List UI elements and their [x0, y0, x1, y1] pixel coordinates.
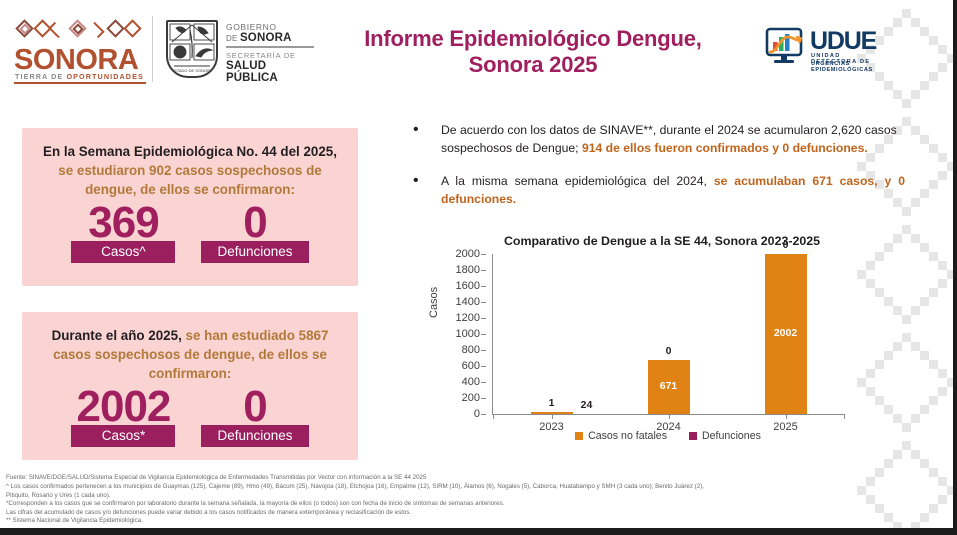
bullet-dot-icon: • — [413, 174, 419, 188]
bullet-list: • De acuerdo con los datos de SINAVE**, … — [405, 122, 905, 224]
bar-top-label-2025: 0 — [783, 239, 789, 251]
legend-label: Casos no fatales — [588, 430, 667, 442]
footnote-line-3: *Corresponden a los casos que se confirm… — [6, 500, 926, 509]
bar-top-label-2023: 1 — [549, 397, 555, 409]
bar-value-label-2025: 2002 — [774, 327, 797, 339]
bullet-text-0: De acuerdo con los datos de SINAVE**, du… — [441, 122, 905, 157]
legend-label: Defunciones — [702, 430, 761, 442]
y-tick-mark-0 — [481, 414, 486, 415]
bullet-0-highlight: 914 de ellos fueron confirmados y 0 defu… — [582, 141, 868, 155]
y-tick-label-2000: 2000 — [436, 248, 480, 260]
weekly-figure-deaths: 0 Defunciones — [201, 203, 308, 263]
udue-wordmark: UDUE — [810, 27, 876, 56]
y-tick-label-1800: 1800 — [436, 264, 480, 276]
x-tick-mark-2025 — [786, 414, 787, 419]
dengue-comparison-chart: Comparativo de Dengue a la SE 44, Sonora… — [432, 234, 892, 470]
chart-y-ticks: 0200400600800100012001400160018002000 — [440, 254, 486, 414]
svg-text:ESTADO DE SONORA: ESTADO DE SONORA — [171, 68, 213, 73]
bullet-item-1: • A la misma semana epidemiológica del 2… — [405, 173, 905, 208]
header-divider — [152, 16, 153, 82]
x-tick-mark-2023 — [552, 414, 553, 419]
y-tick-label-200: 200 — [436, 392, 480, 404]
bar-value-label-2024: 671 — [660, 380, 678, 392]
gobierno-sonora-logo: ESTADO DE SONORA GOBIERNO DE SONORA SECR… — [166, 20, 314, 78]
yearly-cases-label: Casos* — [71, 425, 175, 447]
y-tick-mark-1200 — [481, 318, 486, 319]
sonora-logo: SONORA TIERRA DE OPORTUNIDADES — [14, 18, 146, 80]
y-tick-mark-1600 — [481, 286, 486, 287]
yearly-summary-card: Durante el año 2025, se han estudiado 58… — [22, 312, 358, 460]
y-tick-label-1000: 1000 — [436, 328, 480, 340]
y-tick-label-800: 800 — [436, 344, 480, 356]
y-tick-mark-1400 — [481, 302, 486, 303]
yearly-summary-text: Durante el año 2025, se han estudiado 58… — [22, 312, 358, 383]
y-tick-mark-600 — [481, 366, 486, 367]
y-tick-mark-400 — [481, 382, 486, 383]
weekly-summary-lead: En la Semana Epidemiológica No. 44 del 2… — [43, 144, 337, 159]
yearly-figures: 2002 Casos* 0 Defunciones — [22, 387, 358, 447]
gobierno-line3: SECRETARÍA DE — [226, 51, 316, 60]
coat-of-arms-shield-icon: ESTADO DE SONORA — [166, 20, 218, 78]
weekly-summary-text: En la Semana Epidemiológica No. 44 del 2… — [22, 128, 358, 199]
gobierno-line2-value: SONORA — [240, 32, 292, 44]
yearly-cases-number: 2002 — [71, 387, 175, 427]
sonora-tagline-plain: TIERRA DE — [15, 72, 66, 81]
sonora-underline — [14, 82, 146, 84]
x-tick-mark-2024 — [669, 414, 670, 419]
weekly-deaths-number: 0 — [201, 203, 308, 243]
bar-group-2024[interactable]: 06712024 — [610, 254, 727, 414]
chart-title: Comparativo de Dengue a la SE 44, Sonora… — [432, 234, 892, 248]
weekly-summary-rest: se estudiaron 902 casos sospechosos de d… — [58, 163, 321, 197]
y-tick-mark-1800 — [481, 270, 486, 271]
footnote-line-4: Las cifras del acumulado de casos y/o de… — [6, 509, 926, 518]
gobierno-line2: DE SONORA — [226, 32, 316, 44]
yearly-deaths-number: 0 — [201, 387, 308, 427]
bullet-item-0: • De acuerdo con los datos de SINAVE**, … — [405, 122, 905, 157]
y-tick-label-1400: 1400 — [436, 296, 480, 308]
y-tick-mark-200 — [481, 398, 486, 399]
chart-bars-layer: 124202306712024020022025 — [493, 254, 844, 414]
y-tick-label-0: 0 — [436, 408, 480, 420]
gobierno-text-block: GOBIERNO DE SONORA SECRETARÍA DE SALUD P… — [226, 22, 316, 84]
bottom-edge-bar — [0, 528, 957, 535]
y-tick-label-1200: 1200 — [436, 312, 480, 324]
slide-canvas: SONORA TIERRA DE OPORTUNIDADES — [0, 0, 957, 535]
weekly-figures: 369 Casos^ 0 Defunciones — [22, 203, 358, 263]
x-tick-mark-end — [844, 414, 845, 419]
udue-monitor-chart-icon — [764, 26, 808, 70]
bullet-dot-icon: • — [413, 123, 419, 137]
y-tick-mark-1000 — [481, 334, 486, 335]
x-tick-mark-start — [493, 414, 494, 419]
weekly-summary-card: En la Semana Epidemiológica No. 44 del 2… — [22, 128, 358, 286]
legend-swatch-icon — [575, 432, 583, 440]
sonora-tagline: TIERRA DE OPORTUNIDADES — [15, 72, 144, 81]
footnote-line-1: ^ Los casos confirmados pertenecen a los… — [6, 483, 926, 492]
footnote-line-2: Pitiquito, Rosario y Ures (1 cada uno). — [6, 492, 926, 501]
udue-logo: UDUE UNIDAD DETECTORA DE URGENCIAS EPIDE… — [764, 26, 886, 72]
bar-group-2025[interactable]: 020022025 — [727, 254, 844, 414]
chart-plot-area: Casos 0200400600800100012001400160018002… — [432, 254, 892, 434]
y-tick-mark-2000 — [481, 254, 486, 255]
yearly-figure-deaths: 0 Defunciones — [201, 387, 308, 447]
y-tick-mark-800 — [481, 350, 486, 351]
legend-swatch-icon — [689, 432, 697, 440]
weekly-figure-cases: 369 Casos^ — [71, 203, 175, 263]
y-tick-label-400: 400 — [436, 376, 480, 388]
sonora-tagline-accent: OPORTUNIDADES — [66, 72, 143, 81]
weekly-cases-label: Casos^ — [71, 241, 175, 263]
page-title-line2: Sonora 2025 — [318, 52, 748, 78]
chart-legend: Casos no fatalesDefunciones — [492, 430, 844, 442]
gobierno-line1: GOBIERNO — [226, 22, 316, 32]
gobierno-line4: SALUD PÚBLICA — [226, 60, 316, 84]
yearly-deaths-label: Defunciones — [201, 425, 308, 447]
yearly-figure-cases: 2002 Casos* — [71, 387, 175, 447]
footnotes: Fuente: SINAVE/DGE/SALUD/Sistema Especia… — [6, 474, 926, 526]
bullet-text-1: A la misma semana epidemiológica del 202… — [441, 173, 905, 208]
footnote-line-5: ** Sistema Nacional de Vigilancia Epidem… — [6, 517, 926, 526]
gobierno-line2-prefix: DE — [226, 34, 240, 43]
y-tick-label-1600: 1600 — [436, 280, 480, 292]
bar-top-label-2024: 0 — [666, 345, 672, 357]
yearly-summary-lead: Durante el año 2025, — [52, 328, 182, 343]
udue-subtitle-2: URGENCIAS EPIDEMIOLÓGICAS — [811, 61, 886, 73]
page-title-line1: Informe Epidemiológico Dengue, — [318, 26, 748, 52]
bar-value-label-2023: 24 — [581, 399, 593, 411]
weekly-deaths-label: Defunciones — [201, 241, 308, 263]
legend-item-0[interactable]: Casos no fatales — [575, 430, 667, 442]
bar-group-2023[interactable]: 1242023 — [493, 254, 610, 414]
slide-header: SONORA TIERRA DE OPORTUNIDADES — [0, 0, 957, 98]
legend-item-1[interactable]: Defunciones — [689, 430, 761, 442]
y-tick-label-600: 600 — [436, 360, 480, 372]
bullet-1-plain: A la misma semana epidemiológica del 202… — [441, 174, 714, 188]
sonora-diamond-pattern-icon — [14, 18, 146, 44]
gobierno-rule — [226, 46, 314, 48]
footnote-line-0: Fuente: SINAVE/DGE/SALUD/Sistema Especia… — [6, 474, 926, 483]
weekly-cases-number: 369 — [71, 203, 175, 243]
page-title: Informe Epidemiológico Dengue, Sonora 20… — [318, 26, 748, 78]
